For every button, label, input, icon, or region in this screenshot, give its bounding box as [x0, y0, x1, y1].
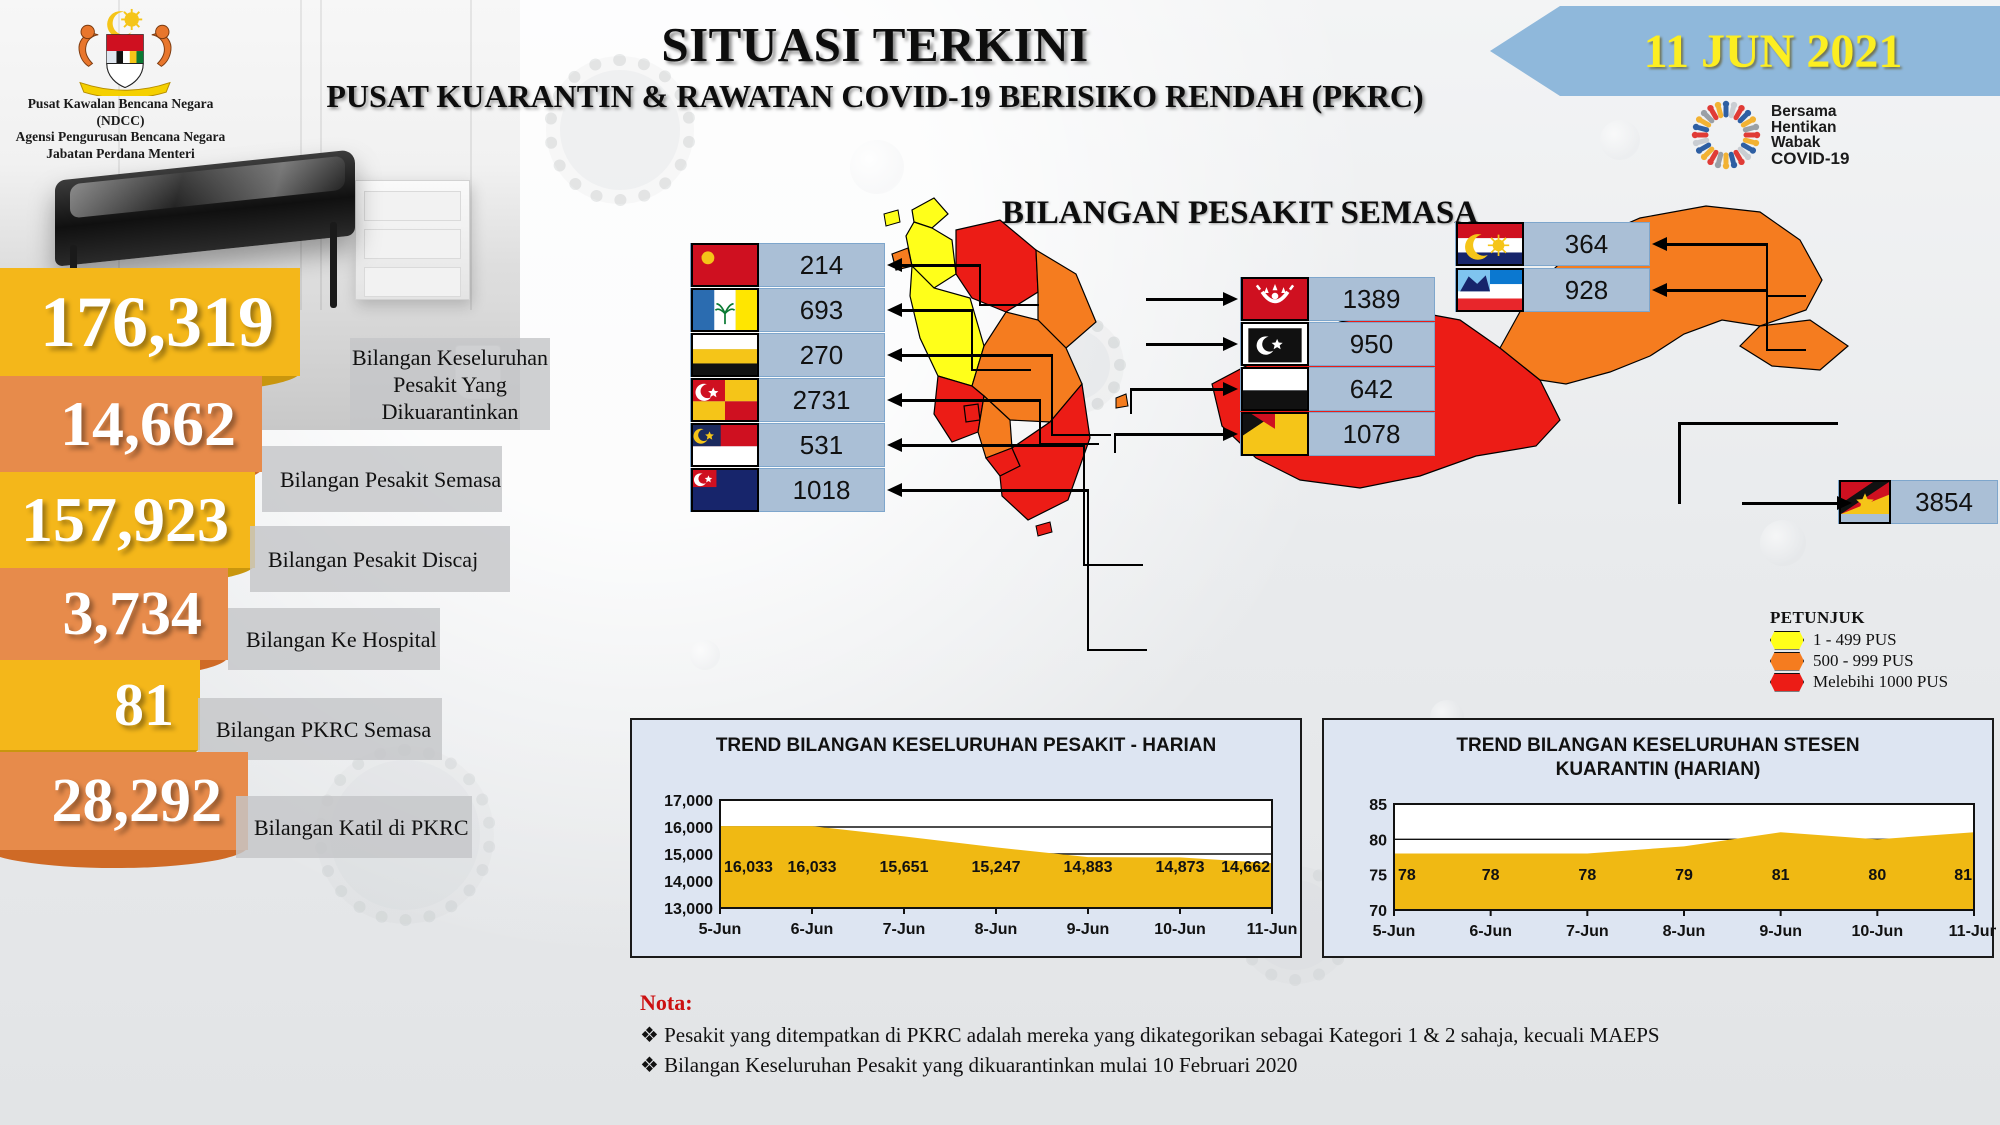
- connector-line: [1678, 422, 1681, 504]
- malaysia-coat-of-arms: [50, 8, 200, 96]
- state-case-box: 950: [1240, 322, 1435, 366]
- data-point-label: 81: [1954, 867, 1972, 884]
- connector-line: [1130, 388, 1132, 414]
- connector-arrow: [901, 264, 979, 267]
- chart-plot-stations: 707580855-Jun6-Jun7-Jun8-Jun9-Jun10-Jun1…: [1324, 720, 1996, 960]
- data-point-label: 81: [1772, 867, 1790, 884]
- flag-kelantan-icon: [1241, 277, 1309, 321]
- island-tioman: [1116, 394, 1128, 408]
- y-tick-label: 75: [1369, 868, 1387, 885]
- connector-arrow: [1666, 289, 1766, 292]
- data-point-label: 14,873: [1156, 859, 1205, 876]
- legend-title: PETUNJUK: [1770, 608, 2000, 628]
- state-case-value: 642: [1309, 374, 1434, 405]
- x-tick-label: 7-Jun: [1566, 923, 1609, 940]
- connector-line: [1766, 243, 1768, 295]
- x-tick-label: 11-Jun: [1247, 921, 1298, 938]
- connector-arrow: [1146, 298, 1224, 301]
- connector-arrow: [1666, 243, 1766, 246]
- state-case-value: 214: [759, 250, 884, 281]
- y-tick-label: 17,000: [664, 793, 713, 810]
- notes-heading: Nota:: [640, 990, 1980, 1016]
- connector-line: [971, 369, 1031, 371]
- stat-band: 157,923: [0, 472, 255, 568]
- flag-johor-icon: [691, 468, 759, 512]
- stat-value: 3,734: [0, 568, 228, 660]
- x-tick-label: 8-Jun: [975, 921, 1018, 938]
- stat-label: Bilangan Ke Hospital: [246, 626, 437, 653]
- bokeh: [690, 640, 720, 670]
- connector-line: [1051, 354, 1053, 434]
- state-case-value: 928: [1524, 275, 1649, 306]
- state-case-box: 364: [1455, 222, 1650, 266]
- stat-label-box: Bilangan Keseluruhan Pesakit Yang Dikuar…: [350, 338, 550, 430]
- state-case-value: 1078: [1309, 419, 1434, 450]
- x-tick-label: 9-Jun: [1759, 923, 1802, 940]
- connector-arrow: [901, 399, 1039, 402]
- agency-line-3: Jabatan Perdana Menteri: [8, 146, 233, 163]
- stat-label: Bilangan PKRC Semasa: [216, 716, 431, 743]
- y-tick-label: 80: [1369, 832, 1387, 849]
- data-point-label: 16,033: [788, 859, 837, 876]
- note-item: ❖ Bilangan Keseluruhan Pesakit yang diku…: [640, 1050, 1980, 1080]
- connector-line: [1039, 399, 1041, 443]
- notes-block: Nota: ❖ Pesakit yang ditempatkan di PKRC…: [640, 990, 1980, 1080]
- note-text: Pesakit yang ditempatkan di PKRC adalah …: [664, 1023, 1660, 1047]
- y-tick-label: 16,000: [664, 820, 713, 837]
- connector-line: [979, 304, 1039, 306]
- flag-sabah-icon: [1456, 268, 1524, 312]
- stat-band: 3,734: [0, 568, 228, 660]
- flag-pahang-icon: [1241, 367, 1309, 411]
- state-case-value: 1389: [1309, 284, 1434, 315]
- connector-line: [1114, 433, 1116, 453]
- note-item: ❖ Pesakit yang ditempatkan di PKRC adala…: [640, 1020, 1980, 1050]
- state-case-value: 270: [759, 340, 884, 371]
- agency-caption: Pusat Kawalan Bencana Negara (NDCC) Agen…: [8, 96, 233, 162]
- stat-value: 157,923: [0, 472, 255, 568]
- state-kl: [964, 404, 980, 422]
- connector-line: [1766, 349, 1806, 351]
- state-case-value: 3854: [1891, 487, 1997, 518]
- state-case-box: 928: [1455, 268, 1650, 312]
- x-tick-label: 5-Jun: [1373, 923, 1416, 940]
- data-point-label: 80: [1868, 867, 1886, 884]
- legend-swatch: [1770, 652, 1804, 671]
- x-tick-label: 8-Jun: [1663, 923, 1706, 940]
- data-point-label: 79: [1675, 867, 1693, 884]
- connector-line: [1766, 295, 1806, 297]
- connector-line: [1766, 289, 1768, 349]
- campaign-line-4: COVID-19: [1771, 151, 1849, 167]
- state-sabah-east: [1740, 320, 1848, 370]
- state-case-value: 364: [1524, 229, 1649, 260]
- x-tick-label: 6-Jun: [1469, 923, 1512, 940]
- x-tick-label: 10-Jun: [1154, 921, 1206, 938]
- x-tick-label: 7-Jun: [883, 921, 926, 938]
- state-case-box: 693: [690, 288, 885, 332]
- stat-label: Bilangan Katil di PKRC: [254, 814, 469, 841]
- state-case-box: 2731: [690, 378, 885, 422]
- legend-swatch: [1770, 631, 1804, 650]
- legend-row: 500 - 999 PUS: [1770, 651, 2000, 671]
- stat-label-box: Bilangan Pesakit Semasa: [262, 446, 502, 512]
- state-case-box: 214: [690, 243, 885, 287]
- state-case-box: 642: [1240, 367, 1435, 411]
- agency-line-1: Pusat Kawalan Bencana Negara (NDCC): [8, 96, 233, 129]
- state-case-box: 1389: [1240, 277, 1435, 321]
- connector-line: [971, 309, 973, 369]
- stat-label: Bilangan Pesakit Discaj: [268, 546, 478, 573]
- stat-value: 28,292: [0, 752, 248, 850]
- note-text: Bilangan Keseluruhan Pesakit yang dikuar…: [664, 1053, 1297, 1077]
- connector-arrow: [901, 489, 1087, 492]
- chart-card-patients: TREND BILANGAN KESELURUHAN PESAKIT - HAR…: [630, 718, 1302, 958]
- key-statistics-funnel: 176,319Bilangan Keseluruhan Pesakit Yang…: [0, 268, 500, 1125]
- stat-band: 81: [0, 660, 200, 750]
- x-tick-label: 5-Jun: [699, 921, 742, 938]
- data-point-label: 78: [1398, 867, 1416, 884]
- connector-arrow: [1146, 343, 1224, 346]
- data-point-label: 16,033: [724, 859, 773, 876]
- state-case-value: 950: [1309, 329, 1434, 360]
- flag-perak-icon: [691, 333, 759, 377]
- chart-plot-patients: 13,00014,00015,00016,00017,0005-Jun6-Jun…: [632, 720, 1304, 960]
- stat-label: Bilangan Keseluruhan Pesakit Yang Dikuar…: [350, 344, 550, 425]
- stat-label-box: Bilangan Ke Hospital: [228, 608, 440, 670]
- stat-band: 176,319: [0, 268, 300, 376]
- y-tick-label: 15,000: [664, 847, 713, 864]
- stat-value: 14,662: [0, 376, 262, 472]
- infographic-root: Pusat Kawalan Bencana Negara (NDCC) Agen…: [0, 0, 2000, 1125]
- legend-row: Melebihi 1000 PUS: [1770, 672, 2000, 692]
- connector-arrow: [1130, 388, 1224, 391]
- people-burst-icon: [1689, 100, 1763, 170]
- stat-label-box: Bilangan Pesakit Discaj: [250, 526, 510, 592]
- data-point-label: 14,662: [1221, 859, 1270, 876]
- stat-label: Bilangan Pesakit Semasa: [280, 466, 501, 493]
- note-bullet-icon: ❖: [640, 1023, 659, 1047]
- data-point-label: 14,883: [1064, 859, 1113, 876]
- state-case-box: 531: [690, 423, 885, 467]
- flag-negeri-sembilan-icon: [691, 423, 759, 467]
- flag-kedah-icon: [691, 288, 759, 332]
- date-text: 11 JUN 2021: [1588, 24, 1903, 79]
- chart-card-stations: TREND BILANGAN KESELURUHAN STESEN KUARAN…: [1322, 718, 1994, 958]
- data-point-label: 78: [1578, 867, 1596, 884]
- connector-line: [1087, 489, 1089, 649]
- legend-swatch: [1770, 673, 1804, 692]
- legend-label: Melebihi 1000 PUS: [1813, 672, 1948, 692]
- legend-row: 1 - 499 PUS: [1770, 630, 2000, 650]
- connector-line: [1087, 649, 1147, 651]
- connector-arrow: [901, 444, 1083, 447]
- state-case-value: 1018: [759, 475, 884, 506]
- legend-label: 500 - 999 PUS: [1813, 651, 1914, 671]
- state-case-box: 1018: [690, 468, 885, 512]
- state-case-box: 270: [690, 333, 885, 377]
- state-case-value: 2731: [759, 385, 884, 416]
- connector-arrow: [1114, 433, 1224, 436]
- campaign-line-1: Bersama: [1771, 104, 1849, 120]
- stat-label-box: Bilangan PKRC Semasa: [198, 698, 442, 760]
- state-singapore-marker: [1036, 522, 1052, 536]
- flag-perlis-icon: [691, 243, 759, 287]
- flag-selangor-icon: [691, 378, 759, 422]
- data-point-label: 15,247: [972, 859, 1021, 876]
- connector-line: [979, 264, 981, 304]
- campaign-text: Bersama Hentikan Wabak COVID-19: [1763, 104, 1849, 166]
- page-title: SITUASI TERKINI: [380, 16, 1370, 73]
- stat-value: 176,319: [0, 268, 300, 376]
- connector-line: [1083, 564, 1143, 566]
- flag-terengganu-icon: [1241, 322, 1309, 366]
- state-case-value: 531: [759, 430, 884, 461]
- bokeh: [1600, 120, 1640, 160]
- flag-melaka-icon: [1241, 412, 1309, 456]
- y-tick-label: 70: [1369, 903, 1387, 920]
- connector-arrow: [901, 354, 1051, 357]
- state-case-value: 693: [759, 295, 884, 326]
- note-bullet-icon: ❖: [640, 1053, 659, 1077]
- connector-line: [1083, 444, 1085, 564]
- x-tick-label: 11-Jun: [1949, 923, 1996, 940]
- campaign-line-2: Hentikan: [1771, 120, 1849, 136]
- page-subtitle: PUSAT KUARANTIN & RAWATAN COVID-19 BERIS…: [230, 78, 1520, 115]
- x-tick-label: 10-Jun: [1852, 923, 1904, 940]
- x-tick-label: 9-Jun: [1067, 921, 1110, 938]
- data-point-label: 78: [1482, 867, 1500, 884]
- y-tick-label: 85: [1369, 797, 1387, 814]
- legend-label: 1 - 499 PUS: [1813, 630, 1897, 650]
- flag-wp-kuala-lumpur-icon: [1456, 222, 1524, 266]
- map-legend: PETUNJUK 1 - 499 PUS500 - 999 PUSMelebih…: [1770, 608, 2000, 693]
- connector-arrow: [1742, 502, 1838, 505]
- stat-band: 14,662: [0, 376, 262, 472]
- connector-line: [1678, 422, 1838, 425]
- x-tick-label: 6-Jun: [791, 921, 834, 938]
- state-case-box: 1078: [1240, 412, 1435, 456]
- y-tick-label: 14,000: [664, 874, 713, 891]
- stat-label-box: Bilangan Katil di PKRC: [236, 796, 472, 858]
- state-case-box: 3854: [1838, 480, 1998, 524]
- date-banner: 11 JUN 2021: [1490, 6, 2000, 96]
- bersama-hentikan-wabak-logo: Bersama Hentikan Wabak COVID-19: [1689, 100, 1994, 170]
- connector-arrow: [901, 309, 971, 312]
- data-point-label: 15,651: [880, 859, 929, 876]
- y-tick-label: 13,000: [664, 901, 713, 918]
- stat-value: 81: [0, 660, 200, 750]
- connector-line: [1051, 434, 1111, 436]
- agency-line-2: Agensi Pengurusan Bencana Negara: [8, 129, 233, 146]
- stat-band: 28,292: [0, 752, 248, 850]
- island-langkawi: [884, 210, 900, 226]
